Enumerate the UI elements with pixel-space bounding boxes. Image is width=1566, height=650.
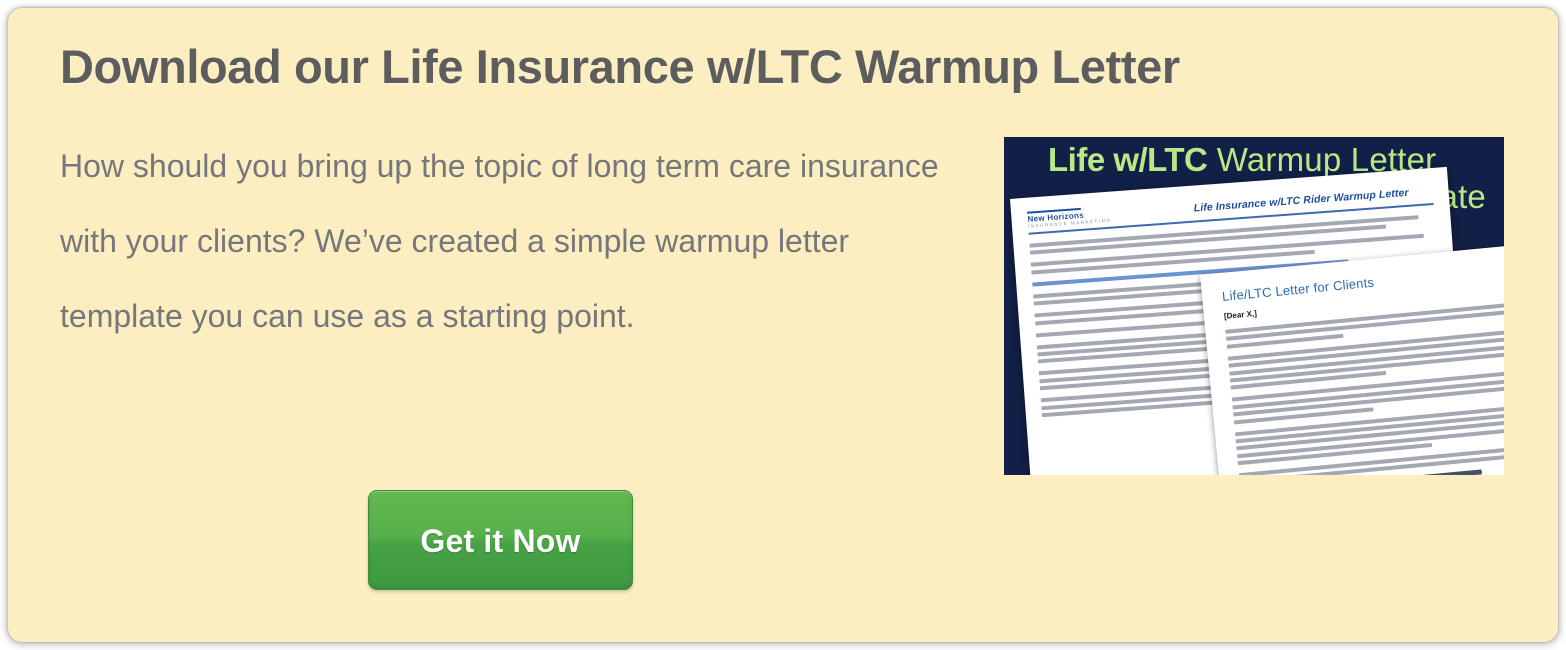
new-horizons-logo: New Horizons INSURANCE MARKETING: [1027, 206, 1112, 230]
preview-title-strong: Life w/LTC: [1048, 141, 1207, 178]
back-document-title: Life Insurance w/LTC Rider Warmup Letter: [1193, 182, 1433, 214]
body-copy: How should you bring up the topic of lon…: [60, 93, 940, 354]
cta-banner: Download our Life Insurance w/LTC Warmup…: [8, 8, 1558, 642]
get-it-now-button[interactable]: Get it Now: [368, 490, 633, 590]
cta-row: Get it Now: [368, 490, 633, 590]
front-document-body: [1225, 293, 1504, 475]
page-title: Download our Life Insurance w/LTC Warmup…: [60, 42, 970, 93]
copy-column: Download our Life Insurance w/LTC Warmup…: [60, 42, 970, 354]
front-document-sheet: Life/LTC Letter for Clients [Dear X,]: [1200, 235, 1504, 475]
document-preview-image: Life w/LTC Warmup Letter Template New Ho…: [1004, 137, 1504, 475]
